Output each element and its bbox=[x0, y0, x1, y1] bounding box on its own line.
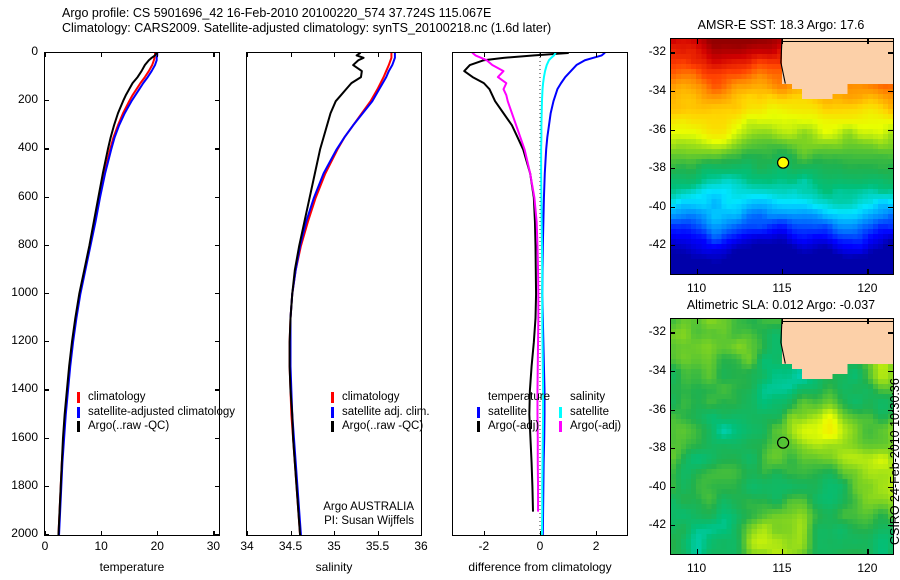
axis-tick bbox=[484, 52, 485, 57]
legend-item: climatology bbox=[330, 390, 430, 405]
x-tick-label: 2 bbox=[574, 539, 618, 553]
axis-tick bbox=[670, 168, 675, 169]
legend-label: satellite bbox=[570, 406, 609, 418]
axis-tick bbox=[215, 245, 220, 246]
axis-tick bbox=[215, 197, 220, 198]
axis-tick bbox=[540, 531, 541, 536]
axis-tick bbox=[247, 531, 248, 536]
sst-map-panel[interactable] bbox=[670, 38, 894, 275]
map-x-tick-label: 110 bbox=[675, 281, 719, 295]
axis-tick bbox=[782, 269, 783, 274]
axis-tick bbox=[45, 531, 46, 536]
map-y-tick-label: -32 bbox=[634, 44, 666, 58]
temperature-axis-label: temperature bbox=[44, 560, 220, 574]
x-tick-label: 20 bbox=[135, 539, 179, 553]
axis-tick bbox=[596, 52, 597, 57]
axis-tick bbox=[670, 487, 675, 488]
legend-label: satellite-adjusted climatology bbox=[88, 406, 235, 418]
axis-tick bbox=[215, 100, 220, 101]
axis-tick bbox=[867, 549, 868, 554]
axis-tick bbox=[44, 438, 49, 439]
sla-map-image bbox=[671, 319, 893, 554]
axis-tick bbox=[888, 91, 893, 92]
legend-label: Argo(-adj) bbox=[570, 420, 621, 432]
map-y-tick-label: -42 bbox=[634, 237, 666, 251]
axis-tick bbox=[157, 52, 158, 57]
axis-tick bbox=[215, 341, 220, 342]
legend-label: Argo(-adj) bbox=[488, 420, 539, 432]
series-salinity-argo-adj- bbox=[473, 53, 539, 511]
axis-tick bbox=[867, 319, 868, 324]
map-y-tick-label: -36 bbox=[634, 122, 666, 136]
series-satellite-adjusted-climatology bbox=[59, 53, 157, 535]
axis-tick bbox=[867, 39, 868, 44]
series-temperature-argo-adj- bbox=[464, 53, 568, 511]
axis-tick bbox=[888, 332, 893, 333]
axis-tick bbox=[44, 197, 49, 198]
axis-tick bbox=[670, 410, 675, 411]
sst-map-image bbox=[671, 39, 893, 274]
difference-profile-plot bbox=[453, 53, 627, 535]
axis-tick bbox=[44, 293, 49, 294]
csiro-timestamp: CSIRO 24-Feb-2010 10:30:36 bbox=[888, 378, 900, 545]
temperature-profile-plot bbox=[45, 53, 219, 535]
axis-tick bbox=[45, 52, 46, 57]
axis-tick bbox=[421, 52, 422, 57]
map-y-tick-label: -34 bbox=[634, 83, 666, 97]
salinity-legend: climatology satellite adj. clim. Argo(..… bbox=[330, 390, 430, 434]
series-climatology bbox=[290, 53, 392, 535]
axis-tick bbox=[215, 148, 220, 149]
temperature-legend: climatology satellite-adjusted climatolo… bbox=[76, 390, 235, 434]
argo-position-marker[interactable] bbox=[778, 157, 789, 168]
difference-axis-label: difference from climatology bbox=[452, 560, 628, 574]
legend-label: salinity bbox=[570, 391, 605, 403]
legend-swatch-climatology bbox=[77, 392, 80, 403]
axis-tick bbox=[697, 549, 698, 554]
legend-label: Argo(..raw -QC) bbox=[342, 420, 423, 432]
legend-item: Argo(-adj) bbox=[558, 419, 621, 434]
axis-tick bbox=[378, 52, 379, 57]
legend-item: Argo(..raw -QC) bbox=[330, 419, 430, 434]
depth-tick-label: 1800 bbox=[0, 478, 38, 492]
axis-tick bbox=[782, 39, 783, 44]
depth-tick-label: 200 bbox=[0, 92, 38, 106]
map-y-tick-label: -42 bbox=[634, 517, 666, 531]
axis-tick bbox=[782, 319, 783, 324]
axis-tick bbox=[44, 486, 49, 487]
legend-swatch-argo bbox=[331, 421, 334, 432]
map-y-tick-label: -38 bbox=[634, 160, 666, 174]
salinity-profile-plot bbox=[247, 53, 421, 535]
axis-tick bbox=[888, 168, 893, 169]
legend-swatch-satellite-adjusted bbox=[77, 407, 80, 418]
axis-tick bbox=[697, 39, 698, 44]
depth-tick-label: 0 bbox=[0, 44, 38, 58]
map-y-tick-label: -32 bbox=[634, 324, 666, 338]
axis-tick bbox=[44, 341, 49, 342]
axis-tick bbox=[421, 531, 422, 536]
legend-item: Argo(..raw -QC) bbox=[76, 419, 235, 434]
axis-tick bbox=[44, 389, 49, 390]
axis-tick bbox=[44, 100, 49, 101]
x-tick-label: 35.5 bbox=[356, 539, 400, 553]
credit-line2: PI: Susan Wijffels bbox=[264, 514, 414, 528]
depth-tick-label: 1000 bbox=[0, 285, 38, 299]
legend-heading-temperature: temperature bbox=[476, 390, 550, 405]
axis-tick bbox=[157, 531, 158, 536]
depth-tick-label: 1600 bbox=[0, 430, 38, 444]
axis-tick bbox=[670, 371, 675, 372]
depth-tick-label: 800 bbox=[0, 237, 38, 251]
temperature-profile-panel[interactable] bbox=[44, 52, 220, 536]
axis-tick bbox=[215, 438, 220, 439]
map-x-tick-label: 110 bbox=[675, 561, 719, 575]
depth-tick-label: 2000 bbox=[0, 526, 38, 540]
axis-tick bbox=[484, 531, 485, 536]
axis-tick bbox=[888, 245, 893, 246]
axis-tick bbox=[540, 52, 541, 57]
axis-tick bbox=[291, 531, 292, 536]
page-title-line2: Climatology: CARS2009. Satellite-adjuste… bbox=[62, 21, 551, 36]
legend-swatch-temp-satellite bbox=[477, 407, 480, 418]
axis-tick bbox=[670, 207, 675, 208]
axis-tick bbox=[101, 52, 102, 57]
credit-line1: Argo AUSTRALIA bbox=[264, 500, 414, 514]
axis-tick bbox=[888, 207, 893, 208]
x-tick-label: 34 bbox=[225, 539, 269, 553]
legend-swatch-satellite-adjusted bbox=[331, 407, 334, 418]
axis-tick bbox=[334, 531, 335, 536]
sst-map-title: AMSR-E SST: 18.3 Argo: 17.6 bbox=[670, 18, 892, 32]
difference-legend-salinity: salinity satellite Argo(-adj) bbox=[558, 390, 621, 434]
legend-swatch-climatology bbox=[331, 392, 334, 403]
legend-label: Argo(..raw -QC) bbox=[88, 420, 169, 432]
axis-tick bbox=[215, 52, 220, 53]
page-title-line1: Argo profile: CS 5901696_42 16-Feb-2010 … bbox=[62, 6, 491, 21]
map-y-tick-label: -36 bbox=[634, 402, 666, 416]
axis-tick bbox=[888, 130, 893, 131]
series-satellite-adj-clim- bbox=[291, 53, 395, 535]
axis-tick bbox=[867, 269, 868, 274]
legend-swatch-sal-argo bbox=[559, 421, 562, 432]
legend-label: climatology bbox=[88, 391, 146, 403]
series-temperature-satellite bbox=[542, 53, 604, 535]
credit-block: Argo AUSTRALIA PI: Susan Wijffels bbox=[264, 500, 414, 528]
axis-tick bbox=[670, 91, 675, 92]
legend-item: satellite-adjusted climatology bbox=[76, 405, 235, 420]
map-x-tick-label: 115 bbox=[760, 561, 804, 575]
axis-tick bbox=[101, 531, 102, 536]
x-tick-label: 0 bbox=[23, 539, 67, 553]
legend-item: satellite bbox=[558, 405, 621, 420]
sla-map-title: Altimetric SLA: 0.012 Argo: -0.037 bbox=[670, 298, 892, 312]
legend-item: satellite adj. clim. bbox=[330, 405, 430, 420]
difference-legend-temperature: temperature satellite Argo(-adj) bbox=[476, 390, 550, 434]
axis-tick bbox=[44, 245, 49, 246]
series-climatology bbox=[58, 53, 155, 535]
axis-tick bbox=[215, 486, 220, 487]
sla-map-panel[interactable] bbox=[670, 318, 894, 555]
axis-tick bbox=[670, 525, 675, 526]
legend-label: temperature bbox=[488, 391, 550, 403]
legend-item: climatology bbox=[76, 390, 235, 405]
salinity-axis-label: salinity bbox=[246, 560, 422, 574]
map-x-tick-label: 120 bbox=[845, 281, 889, 295]
salinity-profile-panel[interactable] bbox=[246, 52, 422, 536]
difference-profile-panel[interactable] bbox=[452, 52, 628, 536]
depth-tick-label: 600 bbox=[0, 189, 38, 203]
map-y-tick-label: -40 bbox=[634, 479, 666, 493]
axis-tick bbox=[782, 549, 783, 554]
axis-tick bbox=[697, 319, 698, 324]
axis-tick bbox=[213, 52, 214, 57]
legend-label: climatology bbox=[342, 391, 400, 403]
legend-swatch-temp-argo bbox=[477, 421, 480, 432]
x-tick-label: 35 bbox=[312, 539, 356, 553]
map-y-tick-label: -40 bbox=[634, 199, 666, 213]
legend-heading-salinity: salinity bbox=[558, 390, 621, 405]
axis-tick bbox=[670, 332, 675, 333]
axis-tick bbox=[888, 371, 893, 372]
axis-tick bbox=[670, 245, 675, 246]
axis-tick bbox=[670, 52, 675, 53]
legend-swatch-argo bbox=[77, 421, 80, 432]
legend-label: satellite adj. clim. bbox=[342, 406, 430, 418]
axis-tick bbox=[378, 531, 379, 536]
axis-tick bbox=[334, 52, 335, 57]
axis-tick bbox=[888, 52, 893, 53]
depth-tick-label: 400 bbox=[0, 140, 38, 154]
axis-tick bbox=[213, 531, 214, 536]
axis-tick bbox=[670, 448, 675, 449]
axis-tick bbox=[670, 130, 675, 131]
series-argo-raw-qc- bbox=[58, 53, 156, 535]
axis-tick bbox=[215, 534, 220, 535]
map-x-tick-label: 120 bbox=[845, 561, 889, 575]
legend-item: satellite bbox=[476, 405, 550, 420]
x-tick-label: 10 bbox=[79, 539, 123, 553]
axis-tick bbox=[697, 269, 698, 274]
x-tick-label: 36 bbox=[399, 539, 443, 553]
depth-tick-label: 1400 bbox=[0, 381, 38, 395]
x-tick-label: 0 bbox=[518, 539, 562, 553]
legend-item: Argo(-adj) bbox=[476, 419, 550, 434]
map-y-tick-label: -38 bbox=[634, 440, 666, 454]
x-tick-label: 34.5 bbox=[269, 539, 313, 553]
axis-tick bbox=[44, 148, 49, 149]
x-tick-label: -2 bbox=[462, 539, 506, 553]
axis-tick bbox=[247, 52, 248, 57]
map-x-tick-label: 115 bbox=[760, 281, 804, 295]
map-y-tick-label: -34 bbox=[634, 363, 666, 377]
legend-label: satellite bbox=[488, 406, 527, 418]
axis-tick bbox=[215, 293, 220, 294]
axis-tick bbox=[596, 531, 597, 536]
axis-tick bbox=[291, 52, 292, 57]
legend-swatch-sal-satellite bbox=[559, 407, 562, 418]
depth-tick-label: 1200 bbox=[0, 333, 38, 347]
